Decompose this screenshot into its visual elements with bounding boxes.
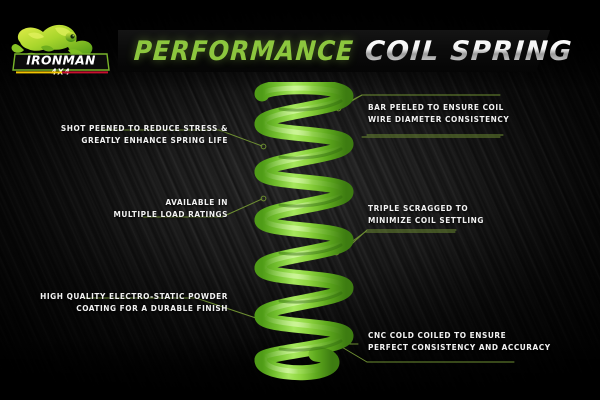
callout-line: MULTIPLE LOAD RATINGS	[114, 208, 229, 220]
ironman-4x4-logo: IRONMAN 4X4	[8, 14, 114, 76]
callout-line: TRIPLE SCRAGGED TO	[368, 202, 484, 214]
page-title: PERFORMANCE COIL SPRING	[133, 33, 574, 69]
callout-line: WIRE DIAMETER CONSISTENCY	[368, 113, 509, 125]
title-performance: PERFORMANCE	[133, 36, 355, 67]
callout-triple-scragged: TRIPLE SCRAGGED TO MINIMIZE COIL SETTLIN…	[368, 202, 484, 227]
callout-line: SHOT PEENED TO REDUCE STRESS &	[61, 122, 228, 134]
callout-powder-coating: HIGH QUALITY ELECTRO-STATIC POWDER COATI…	[40, 290, 228, 315]
callout-line: AVAILABLE IN	[114, 196, 229, 208]
title-coil-spring: COIL SPRING	[364, 36, 574, 67]
callout-bar-peeled: BAR PEELED TO ENSURE COIL WIRE DIAMETER …	[368, 101, 509, 126]
callout-line: BAR PEELED TO ENSURE COIL	[368, 101, 509, 113]
callout-line: HIGH QUALITY ELECTRO-STATIC POWDER	[40, 290, 228, 302]
coil-spring-infographic: IRONMAN 4X4 PERFORMANCE COIL SPRING	[0, 0, 600, 400]
callout-line: CNC COLD COILED TO ENSURE	[368, 329, 551, 341]
logo-wordmark: IRONMAN	[26, 53, 96, 68]
coil-spring-graphic	[246, 82, 364, 382]
callout-load-ratings: AVAILABLE IN MULTIPLE LOAD RATINGS	[114, 196, 229, 221]
callout-line: COATING FOR A DURABLE FINISH	[40, 302, 228, 314]
callout-line: MINIMIZE COIL SETTLING	[368, 214, 484, 226]
callout-cnc-cold-coiled: CNC COLD COILED TO ENSURE PERFECT CONSIS…	[368, 329, 551, 354]
callout-line: GREATLY ENHANCE SPRING LIFE	[61, 134, 228, 146]
callout-line: PERFECT CONSISTENCY AND ACCURACY	[368, 341, 551, 353]
callout-shot-peened: SHOT PEENED TO REDUCE STRESS & GREATLY E…	[61, 122, 228, 147]
